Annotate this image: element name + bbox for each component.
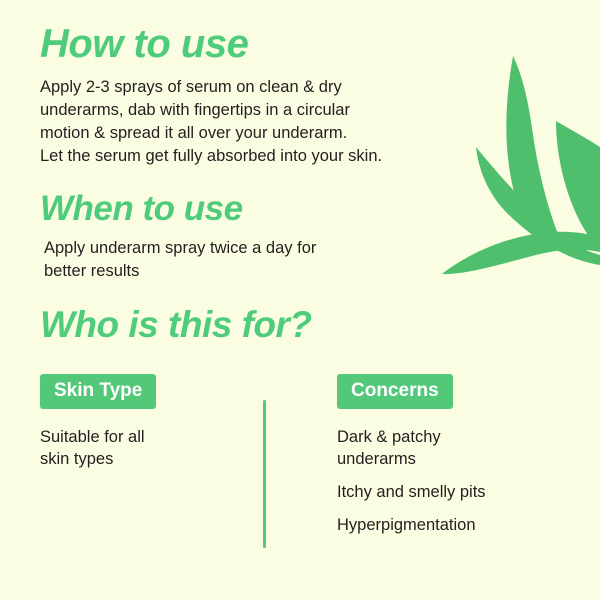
concerns-list: Dark & patchy underarms Itchy and smelly… xyxy=(337,426,557,536)
list-item: Itchy and smelly pits xyxy=(337,481,557,503)
when-to-use-heading: When to use xyxy=(40,191,243,226)
how-to-use-body: Apply 2-3 sprays of serum on clean & dry… xyxy=(40,76,500,168)
product-info-card: How to use Apply 2-3 sprays of serum on … xyxy=(0,0,600,600)
how-to-use-heading: How to use xyxy=(40,24,248,64)
skin-type-column: Skin Type Suitable for all skin types xyxy=(40,374,240,470)
list-item: Hyperpigmentation xyxy=(337,514,557,536)
skin-type-badge: Skin Type xyxy=(40,374,156,409)
list-item: Dark & patchy underarms xyxy=(337,426,557,470)
column-divider xyxy=(263,400,266,548)
skin-type-list: Suitable for all skin types xyxy=(40,426,240,470)
concerns-column: Concerns Dark & patchy underarms Itchy a… xyxy=(337,374,557,536)
who-is-this-for-heading: Who is this for? xyxy=(40,306,312,343)
when-to-use-body: Apply underarm spray twice a day for bet… xyxy=(44,237,464,283)
concerns-badge: Concerns xyxy=(337,374,453,409)
list-item: Suitable for all skin types xyxy=(40,426,240,470)
